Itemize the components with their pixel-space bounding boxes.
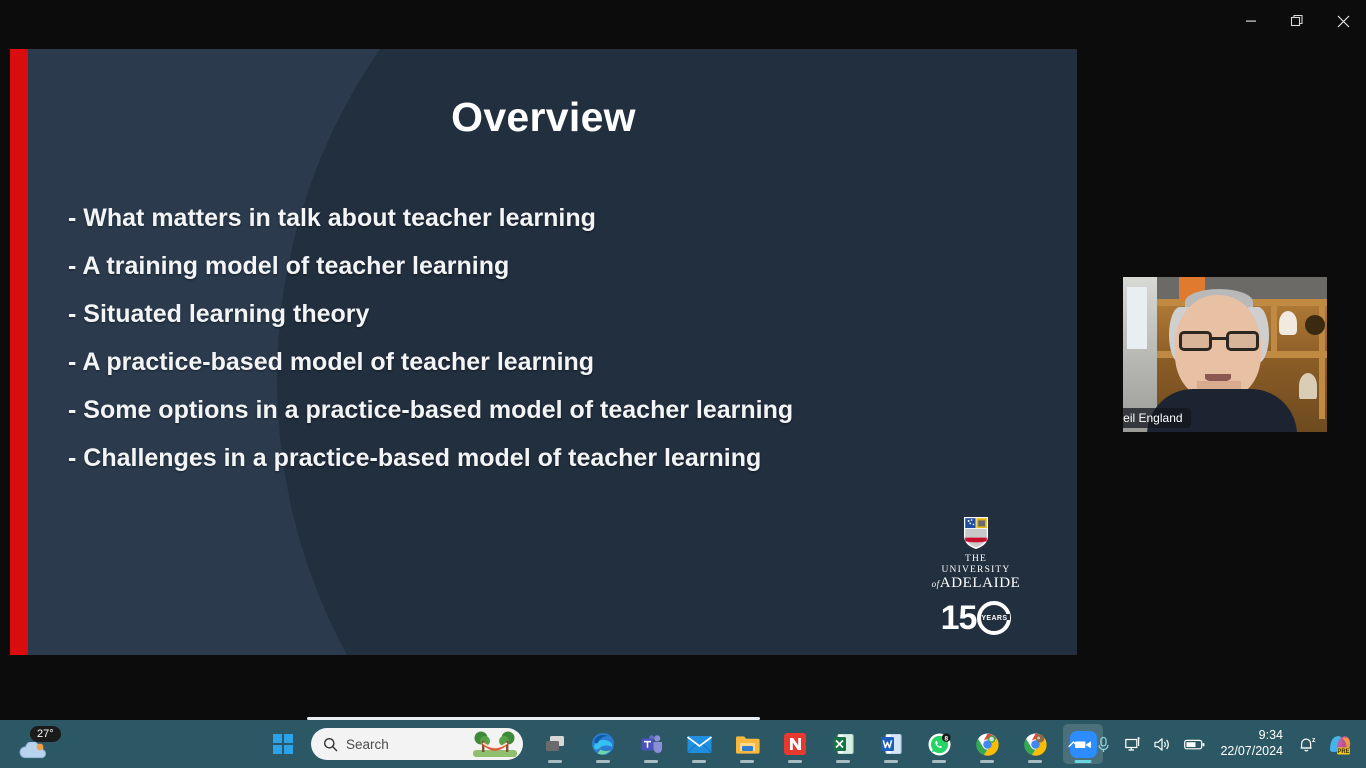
teams-icon — [640, 733, 663, 756]
taskbar-app-task-view[interactable] — [535, 724, 575, 764]
weather-temperature: 27° — [30, 726, 61, 742]
norton-icon — [784, 733, 806, 755]
logo-university-text: THE UNIVERSITY — [930, 554, 1022, 576]
battery-button[interactable] — [1179, 724, 1210, 764]
bullet-item: - What matters in talk about teacher lea… — [68, 194, 1028, 242]
shelf-ornament — [1299, 373, 1317, 399]
notifications-button[interactable]: z — [1293, 724, 1321, 764]
search-input[interactable]: Search — [311, 728, 523, 760]
logo-150-ring: YEARS — [977, 601, 1011, 635]
close-button[interactable] — [1320, 0, 1366, 42]
participant-name-badge: Neil England — [1123, 408, 1191, 428]
start-button[interactable] — [263, 724, 303, 764]
app-running-indicator — [548, 760, 562, 763]
chrome-icon — [1024, 733, 1047, 756]
logo-adelaide-word: ADELAIDE — [940, 575, 1021, 591]
show-hidden-icons-button[interactable] — [1059, 724, 1087, 764]
taskbar-left-region: 27° — [14, 724, 72, 764]
cast-icon — [1125, 737, 1142, 752]
volume-button[interactable] — [1149, 724, 1177, 764]
shelf-ornament — [1279, 311, 1297, 335]
app-running-indicator — [596, 760, 610, 763]
whatsapp-badge-count: 8 — [944, 735, 948, 742]
app-running-indicator — [836, 760, 850, 763]
edge-icon — [591, 732, 615, 756]
app-running-indicator — [932, 760, 946, 763]
logo-of-text: of — [932, 579, 940, 589]
app-running-indicator — [980, 760, 994, 763]
taskbar-date: 22/07/2024 — [1220, 744, 1283, 760]
app-running-indicator — [884, 760, 898, 763]
logo-adelaide-text: ofADELAIDE — [932, 576, 1021, 592]
taskbar-app-whatsapp[interactable]: 8 — [919, 724, 959, 764]
logo-150-number: 15 — [941, 601, 977, 635]
shelf-divider — [1271, 299, 1277, 357]
taskbar-app-microsoft-teams[interactable] — [631, 724, 671, 764]
crest-icon — [963, 516, 989, 550]
restore-button[interactable] — [1274, 0, 1320, 42]
window-title-bar — [0, 0, 1366, 42]
screen-root: Overview - What matters in talk about te… — [0, 0, 1366, 768]
taskbar-app-google-chrome-2[interactable] — [1015, 724, 1055, 764]
window-light — [1127, 287, 1147, 349]
shelf-ornament — [1305, 315, 1325, 335]
app-running-indicator — [1028, 760, 1042, 763]
speaker-icon — [1154, 737, 1172, 752]
bell-dnd-icon: z — [1298, 736, 1316, 753]
taskbar-app-microsoft-word[interactable] — [871, 724, 911, 764]
clock-button[interactable]: 9:34 22/07/2024 — [1212, 728, 1291, 759]
glasses-icon — [1179, 331, 1259, 351]
app-running-indicator — [788, 760, 802, 763]
excel-icon — [832, 733, 854, 755]
slide-bullet-list: - What matters in talk about teacher lea… — [68, 194, 1028, 482]
bullet-item: - Some options in a practice-based model… — [68, 386, 1028, 434]
microphone-icon — [1096, 736, 1111, 753]
svg-text:PRE: PRE — [1337, 749, 1349, 755]
taskbar-app-microsoft-excel[interactable] — [823, 724, 863, 764]
whatsapp-icon: 8 — [928, 733, 951, 756]
logo-150-years: 15 YEARS — [941, 601, 1012, 635]
minimize-button[interactable] — [1228, 0, 1274, 42]
participant-name-label: Neil England — [1123, 411, 1183, 425]
hammock-icon — [473, 731, 517, 757]
word-icon — [880, 733, 902, 755]
bullet-item: - Challenges in a practice-based model o… — [68, 434, 1028, 482]
copilot-pre-icon: PRE — [1328, 732, 1353, 756]
taskbar-time: 9:34 — [1259, 728, 1283, 744]
presentation-slide: Overview - What matters in talk about te… — [10, 49, 1077, 655]
participant-video-tile[interactable]: Neil England — [1123, 277, 1327, 432]
folder-icon — [735, 734, 760, 755]
system-tray: 9:34 22/07/2024 z PRE — [1059, 724, 1358, 764]
cloud-icon — [18, 742, 52, 759]
battery-icon — [1184, 738, 1205, 751]
taskbar-app-norton[interactable] — [775, 724, 815, 764]
start-icon — [273, 734, 294, 755]
chevron-up-icon — [1067, 738, 1080, 751]
app-running-indicator — [740, 760, 754, 763]
search-icon — [323, 737, 338, 752]
search-placeholder: Search — [346, 737, 465, 752]
logo-years-text: YEARS — [981, 615, 1007, 622]
svg-text:z: z — [1312, 737, 1316, 744]
taskbar-center-region: Search — [263, 724, 1103, 764]
taskbar-app-microsoft-edge[interactable] — [583, 724, 623, 764]
bullet-item: - A practice-based model of teacher lear… — [68, 338, 1028, 386]
bullet-item: - Situated learning theory — [68, 290, 1028, 338]
copilot-button[interactable]: PRE — [1323, 724, 1358, 764]
university-of-adelaide-logo: THE UNIVERSITY ofADELAIDE 15 YEARS — [930, 516, 1022, 635]
taskbar-app-mail[interactable] — [679, 724, 719, 764]
taskbar-app-file-explorer[interactable] — [727, 724, 767, 764]
mail-icon — [687, 735, 712, 754]
weather-widget[interactable]: 27° — [14, 724, 72, 764]
app-running-indicator — [644, 760, 658, 763]
task-view-icon — [544, 733, 566, 755]
cast-button[interactable] — [1119, 724, 1147, 764]
app-running-indicator — [692, 760, 706, 763]
slide-title: Overview — [10, 94, 1077, 141]
taskbar-app-google-chrome[interactable] — [967, 724, 1007, 764]
microphone-button[interactable] — [1089, 724, 1117, 764]
bullet-item: - A training model of teacher learning — [68, 242, 1028, 290]
chrome-icon — [976, 733, 999, 756]
windows-taskbar: 27° Search — [0, 720, 1366, 768]
